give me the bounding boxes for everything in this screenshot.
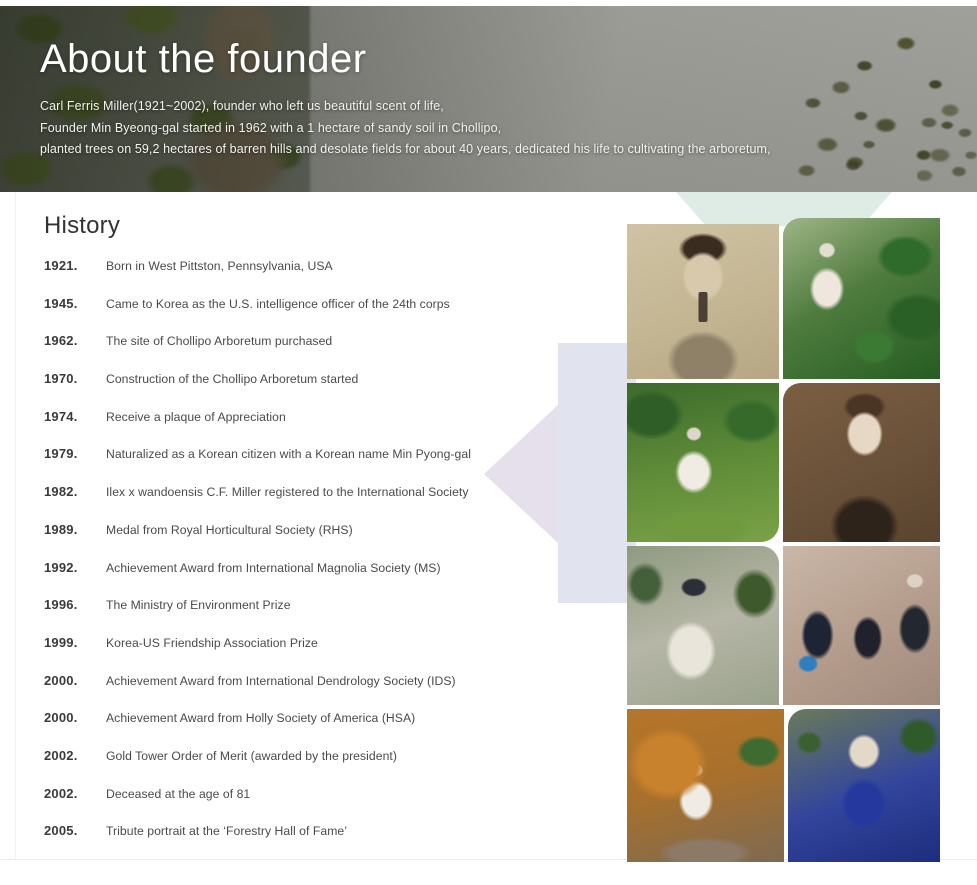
gallery-photo [627, 224, 779, 379]
timeline-description: Korea-US Friendship Association Prize [106, 636, 318, 650]
timeline-row: 2002. Deceased at the age of 81 [44, 786, 604, 824]
timeline-row: 1989. Medal from Royal Horticultural Soc… [44, 522, 604, 560]
hero-description-line: Carl Ferris Miller(1921~2002), founder w… [40, 96, 771, 118]
history-section: History 1921. Born in West Pittston, Pen… [44, 212, 604, 861]
timeline-row: 2000. Achievement Award from Holly Socie… [44, 710, 604, 748]
timeline-description: Receive a plaque of Appreciation [106, 410, 286, 424]
timeline-row: 2002. Gold Tower Order of Merit (awarded… [44, 748, 604, 786]
gallery-photo [627, 709, 784, 862]
timeline-description: Construction of the Chollipo Arboretum s… [106, 372, 358, 386]
timeline-year: 1921. [44, 258, 106, 273]
timeline-year: 1945. [44, 296, 106, 311]
timeline-year: 1979. [44, 446, 106, 461]
timeline-year: 1996. [44, 597, 106, 612]
timeline-description: Came to Korea as the U.S. intelligence o… [106, 297, 450, 311]
history-timeline: 1921. Born in West Pittston, Pennsylvani… [44, 258, 604, 861]
hero-description-line: Founder Min Byeong-gal started in 1962 w… [40, 118, 771, 140]
timeline-description: Achievement Award from International Den… [106, 674, 456, 688]
page-title: About the founder [40, 36, 771, 82]
timeline-year: 1992. [44, 560, 106, 575]
timeline-year: 2000. [44, 673, 106, 688]
timeline-description: The Ministry of Environment Prize [106, 598, 291, 612]
timeline-description: Achievement Award from International Mag… [106, 561, 441, 575]
gallery-photo [627, 383, 779, 542]
timeline-row: 1970. Construction of the Chollipo Arbor… [44, 371, 604, 409]
timeline-year: 1974. [44, 409, 106, 424]
photo-garden-foliage [783, 218, 940, 379]
hero-description-line: planted trees on 59,2 hectares of barren… [40, 139, 771, 161]
timeline-description: Tribute portrait at the ‘Forestry Hall o… [106, 824, 347, 838]
timeline-row: 1921. Born in West Pittston, Pennsylvani… [44, 258, 604, 296]
timeline-year: 1999. [44, 635, 106, 650]
timeline-year: 2002. [44, 786, 106, 801]
timeline-row: 1992. Achievement Award from Internation… [44, 560, 604, 598]
photo-winter-coat [627, 546, 779, 705]
timeline-row: 1945. Came to Korea as the U.S. intellig… [44, 296, 604, 334]
timeline-year: 2005. [44, 823, 106, 838]
photo-award-ceremony [783, 546, 940, 705]
timeline-row: 2000. Achievement Award from Internation… [44, 673, 604, 711]
timeline-year: 1962. [44, 333, 106, 348]
hero-banner: About the founder Carl Ferris Miller(192… [0, 6, 977, 192]
timeline-description: Deceased at the age of 81 [106, 787, 250, 801]
timeline-year: 1970. [44, 371, 106, 386]
gallery-photo [783, 546, 940, 705]
founder-photo-gallery [627, 224, 940, 862]
timeline-row: 1974. Receive a plaque of Appreciation [44, 409, 604, 447]
photo-park-lawn [627, 383, 779, 542]
timeline-description: Achievement Award from Holly Society of … [106, 711, 415, 725]
timeline-description: Gold Tower Order of Merit (awarded by th… [106, 749, 397, 763]
timeline-year: 1989. [44, 522, 106, 537]
gallery-photo [783, 383, 940, 542]
timeline-row: 1982. Ilex x wandoensis C.F. Miller regi… [44, 484, 604, 522]
photo-portrait-sepia [627, 224, 779, 379]
timeline-year: 1982. [44, 484, 106, 499]
timeline-description: Naturalized as a Korean citizen with a K… [106, 447, 471, 461]
timeline-description: Ilex x wandoensis C.F. Miller registered… [106, 485, 468, 499]
timeline-row: 1979. Naturalized as a Korean citizen wi… [44, 446, 604, 484]
left-guide-rule [15, 192, 16, 859]
timeline-description: Born in West Pittston, Pennsylvania, USA [106, 259, 333, 273]
photo-hanok-porch [627, 709, 784, 862]
gallery-photo [783, 218, 940, 379]
timeline-description: The site of Chollipo Arboretum purchased [106, 334, 332, 348]
timeline-row: 2005. Tribute portrait at the ‘Forestry … [44, 823, 604, 861]
timeline-year: 2002. [44, 748, 106, 763]
timeline-row: 1962. The site of Chollipo Arboretum pur… [44, 333, 604, 371]
gallery-photo [788, 709, 940, 862]
hero-text-block: About the founder Carl Ferris Miller(192… [40, 36, 771, 161]
page-top-strip [0, 0, 977, 6]
gallery-photo [627, 546, 779, 705]
timeline-description: Medal from Royal Horticultural Society (… [106, 523, 353, 537]
photo-hanbok-blue [788, 709, 940, 862]
timeline-row: 1996. The Ministry of Environment Prize [44, 597, 604, 635]
timeline-row: 1999. Korea-US Friendship Association Pr… [44, 635, 604, 673]
photo-portrait-brown [783, 383, 940, 542]
history-heading: History [44, 212, 604, 240]
hero-description: Carl Ferris Miller(1921~2002), founder w… [40, 96, 771, 161]
timeline-year: 2000. [44, 710, 106, 725]
